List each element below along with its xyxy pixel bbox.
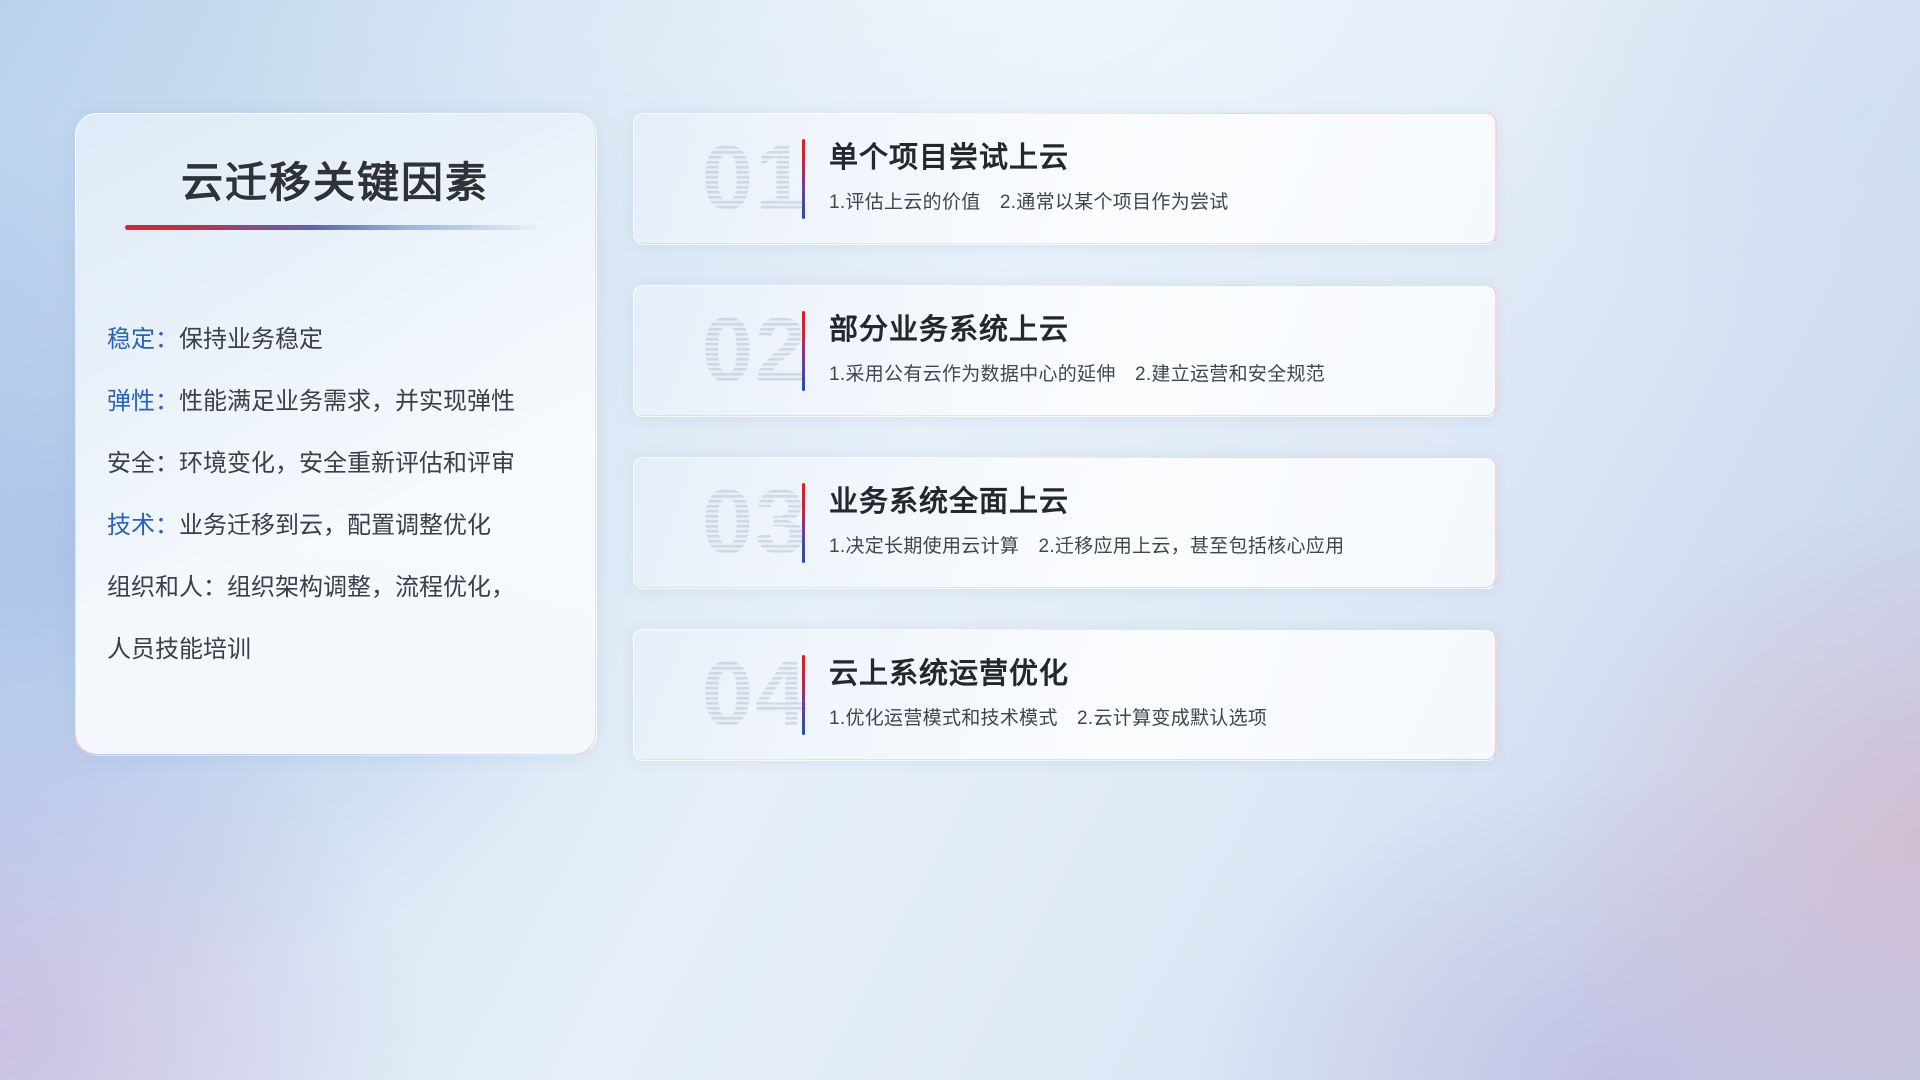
factor-label: 弹性： [107, 388, 179, 415]
stage-card[interactable]: 04云上系统运营优化1.优化运营模式和技术模式 2.云计算变成默认选项 [633, 629, 1495, 759]
factor-row: 弹性：性能满足业务需求，并实现弹性 [107, 371, 577, 433]
factor-text: 人员技能培训 [107, 636, 251, 663]
factor-list: 稳定：保持业务稳定弹性：性能满足业务需求，并实现弹性安全：环境变化，安全重新评估… [107, 309, 577, 681]
factor-label: 技术： [107, 512, 179, 539]
stage-number-watermark: 04 [665, 637, 845, 751]
page-title: 云迁移关键因素 [75, 149, 595, 210]
key-factors-panel: 云迁移关键因素 稳定：保持业务稳定弹性：性能满足业务需求，并实现弹性安全：环境变… [75, 113, 595, 754]
factor-text: 性能满足业务需求，并实现弹性 [179, 388, 515, 415]
stage-subtitle: 1.优化运营模式和技术模式 2.云计算变成默认选项 [829, 703, 1267, 730]
factor-row: 组织和人：组织架构调整，流程优化， [107, 557, 577, 619]
factor-label: 稳定： [107, 326, 179, 353]
stage-subtitle: 1.决定长期使用云计算 2.迁移应用上云，甚至包括核心应用 [829, 531, 1344, 558]
factor-text: 保持业务稳定 [179, 326, 323, 353]
factor-label: 组织和人： [107, 574, 227, 601]
stage-title: 业务系统全面上云 [829, 478, 1069, 520]
title-underline-accent [125, 225, 545, 230]
stage-card[interactable]: 03业务系统全面上云1.决定长期使用云计算 2.迁移应用上云，甚至包括核心应用 [633, 457, 1495, 587]
gradient-divider-bar [802, 139, 805, 219]
stage-number-watermark: 02 [665, 293, 845, 407]
stage-number-watermark: 03 [665, 465, 845, 579]
factor-row: 人员技能培训 [107, 619, 577, 681]
gradient-divider-bar [802, 655, 805, 735]
stage-card[interactable]: 02部分业务系统上云1.采用公有云作为数据中心的延伸 2.建立运营和安全规范 [633, 285, 1495, 415]
stage-title: 单个项目尝试上云 [829, 134, 1069, 176]
gradient-divider-bar [802, 483, 805, 563]
factor-text: 业务迁移到云，配置调整优化 [179, 512, 491, 539]
stage-subtitle: 1.采用公有云作为数据中心的延伸 2.建立运营和安全规范 [829, 359, 1325, 386]
factor-row: 安全：环境变化，安全重新评估和评审 [107, 433, 577, 495]
stage-title: 云上系统运营优化 [829, 650, 1069, 692]
factor-text: 组织架构调整，流程优化， [227, 574, 515, 601]
stage-number-watermark: 01 [665, 121, 845, 235]
factor-label: 安全： [107, 450, 179, 477]
factor-text: 环境变化，安全重新评估和评审 [179, 450, 515, 477]
factor-row: 技术：业务迁移到云，配置调整优化 [107, 495, 577, 557]
stage-subtitle: 1.评估上云的价值 2.通常以某个项目作为尝试 [829, 187, 1229, 214]
stage-title: 部分业务系统上云 [829, 306, 1069, 348]
gradient-divider-bar [802, 311, 805, 391]
factor-row: 稳定：保持业务稳定 [107, 309, 577, 371]
stage-card[interactable]: 01单个项目尝试上云1.评估上云的价值 2.通常以某个项目作为尝试 [633, 113, 1495, 243]
